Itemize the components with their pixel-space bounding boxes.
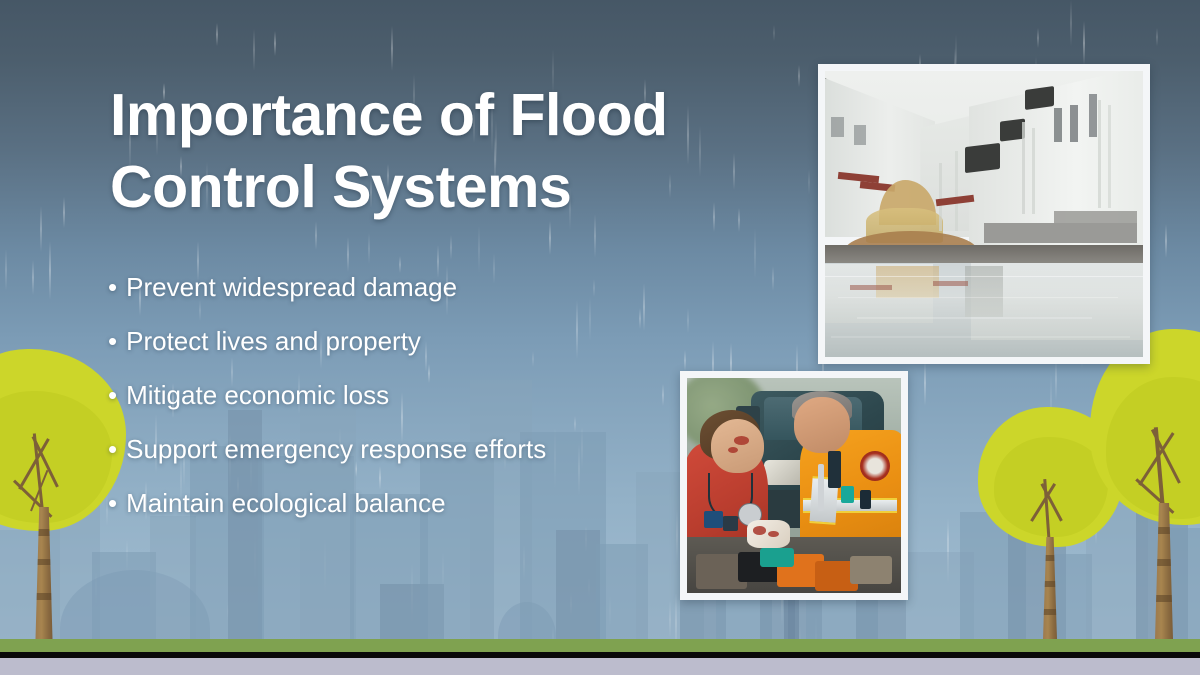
rain-drop xyxy=(1037,28,1039,48)
bullet-dot-icon: • xyxy=(108,274,117,300)
rain-drop xyxy=(274,31,276,56)
slide-title: Importance of Flood Control Systems xyxy=(110,80,770,224)
rain-drop xyxy=(808,169,810,195)
bullet-text-3: Mitigate economic loss xyxy=(126,380,389,411)
rain-drop xyxy=(773,25,775,41)
slide-title-line-1: Importance of Flood xyxy=(110,80,770,152)
sidewalk-band xyxy=(0,658,1200,675)
rain-drop xyxy=(49,241,51,300)
emergency-responders-photo xyxy=(680,371,908,600)
rain-drop xyxy=(754,228,756,279)
flooded-street-photo-content xyxy=(825,71,1143,357)
rain-drop xyxy=(478,225,480,273)
rain-drop xyxy=(5,249,7,291)
bullet-item-4: • Support emergency response efforts xyxy=(108,434,708,465)
slide-canvas: Importance of Flood Control Systems • Pr… xyxy=(0,0,1200,675)
emergency-responders-photo-content xyxy=(687,378,901,593)
rain-drop xyxy=(399,256,401,273)
bullet-text-2: Protect lives and property xyxy=(126,326,421,357)
rain-drop xyxy=(253,29,255,71)
rain-drop xyxy=(1070,0,1072,46)
bullet-item-1: • Prevent widespread damage xyxy=(108,272,708,303)
rain-drop xyxy=(549,221,551,255)
bullet-dot-icon: • xyxy=(108,328,117,354)
bullet-text-5: Maintain ecological balance xyxy=(126,488,445,519)
rain-drop xyxy=(1156,28,1158,46)
rain-drop xyxy=(347,237,349,272)
bullet-item-2: • Protect lives and property xyxy=(108,326,708,357)
rain-drop xyxy=(216,23,218,46)
tree-right-large xyxy=(1090,329,1200,639)
bullet-dot-icon: • xyxy=(108,490,117,516)
rain-drop xyxy=(391,26,393,71)
bullet-item-3: • Mitigate economic loss xyxy=(108,380,708,411)
bullet-item-5: • Maintain ecological balance xyxy=(108,488,708,519)
slide-title-line-2: Control Systems xyxy=(110,152,770,224)
rain-drop xyxy=(450,235,452,260)
rain-drop xyxy=(63,197,65,228)
rain-drop xyxy=(1083,21,1085,65)
rain-drop xyxy=(798,65,800,87)
rain-drop xyxy=(315,221,317,250)
flooded-street-photo xyxy=(818,64,1150,364)
rain-drop xyxy=(40,206,42,252)
rain-drop xyxy=(772,266,774,291)
bullet-list: • Prevent widespread damage • Protect li… xyxy=(108,272,708,542)
bullet-dot-icon: • xyxy=(108,382,117,408)
rain-drop xyxy=(32,260,34,295)
grass-band xyxy=(0,639,1200,653)
bullet-text-1: Prevent widespread damage xyxy=(126,272,457,303)
bullet-text-4: Support emergency response efforts xyxy=(126,434,546,465)
rain-drop xyxy=(1165,224,1167,258)
rain-drop xyxy=(368,233,370,264)
bullet-dot-icon: • xyxy=(108,436,117,462)
